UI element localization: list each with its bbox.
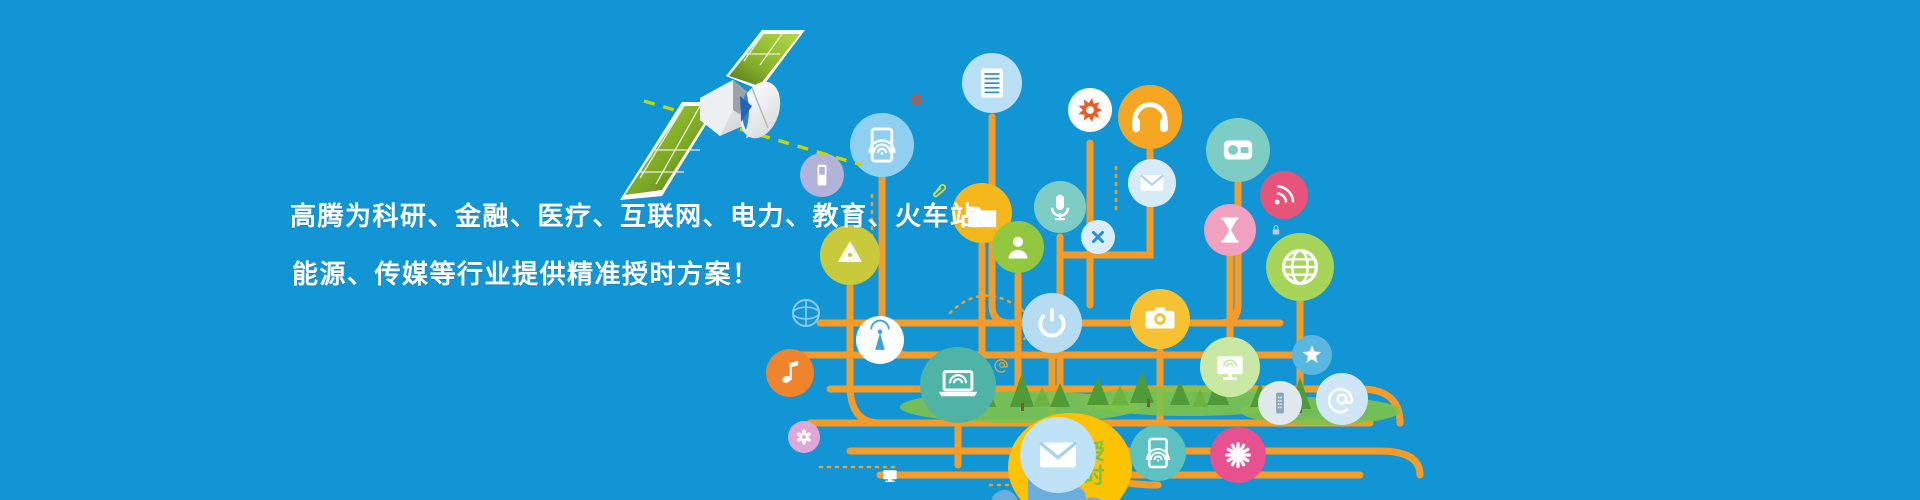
icon-bubble <box>1260 171 1308 219</box>
globe-icon <box>1266 233 1334 301</box>
screen-wifi-icon <box>883 470 896 482</box>
envelope-top-icon <box>1128 159 1176 207</box>
at-symbol-icon <box>995 360 1007 372</box>
satellite-icon <box>600 18 830 208</box>
music-note-icon <box>766 349 814 397</box>
asterisk-icon <box>1210 427 1266 483</box>
flower-icon <box>788 421 820 453</box>
broadcast-tower-icon <box>856 316 904 364</box>
envelope-main-icon <box>1020 417 1096 493</box>
tablet-signal-icon <box>1130 425 1186 481</box>
lock-icon-glyph <box>1273 226 1279 235</box>
camera-device-icon-glyph <box>1224 141 1252 160</box>
at-symbol-icon-glyph <box>995 360 1007 372</box>
icon-bubble <box>920 347 996 423</box>
rss-signal-icon <box>1260 171 1308 219</box>
document-icon-glyph <box>981 68 1003 97</box>
satellite-dish <box>733 77 787 144</box>
lock-icon <box>1273 226 1279 235</box>
document-icon <box>962 53 1022 113</box>
envelope-top-icon-glyph <box>1141 175 1164 191</box>
icon-bubble <box>1118 85 1182 149</box>
close-x-icon <box>1081 220 1115 254</box>
headphones-icon <box>1118 85 1182 149</box>
remote-control-icon-glyph <box>1276 393 1284 414</box>
settings-gear-icon <box>1068 88 1112 132</box>
laptop-wifi-icon <box>920 347 996 423</box>
satellite-illustration <box>600 18 830 208</box>
gear-icon <box>910 93 923 106</box>
star-badge-icon <box>1292 335 1332 375</box>
hero-banner: 高腾为科研、金融、医疗、互联网、电力、教育、火车站、 能源、传媒等行业提供精准授… <box>0 0 1920 500</box>
satellite-solar-panel-upper <box>726 30 805 90</box>
remote-control-icon <box>1258 381 1302 425</box>
headline-block: 高腾为科研、金融、医疗、互联网、电力、教育、火车站、 能源、传媒等行业提供精准授… <box>290 188 1050 304</box>
gear-icon-glyph <box>910 93 923 106</box>
at-bubble-icon <box>1316 373 1368 425</box>
headline-line-2: 能源、传媒等行业提供精准授时方案！ <box>290 246 1050 304</box>
camera-device-icon <box>1206 118 1270 182</box>
monitor-icon <box>1200 337 1260 397</box>
screen-wifi-icon-glyph <box>883 470 896 482</box>
hourglass-icon <box>1204 204 1256 256</box>
icon-bubble <box>1316 373 1368 425</box>
headline-line-1: 高腾为科研、金融、医疗、互联网、电力、教育、火车站、 <box>290 188 1050 246</box>
photo-camera-icon <box>1130 289 1190 349</box>
envelope-main-icon-glyph <box>1040 443 1076 468</box>
